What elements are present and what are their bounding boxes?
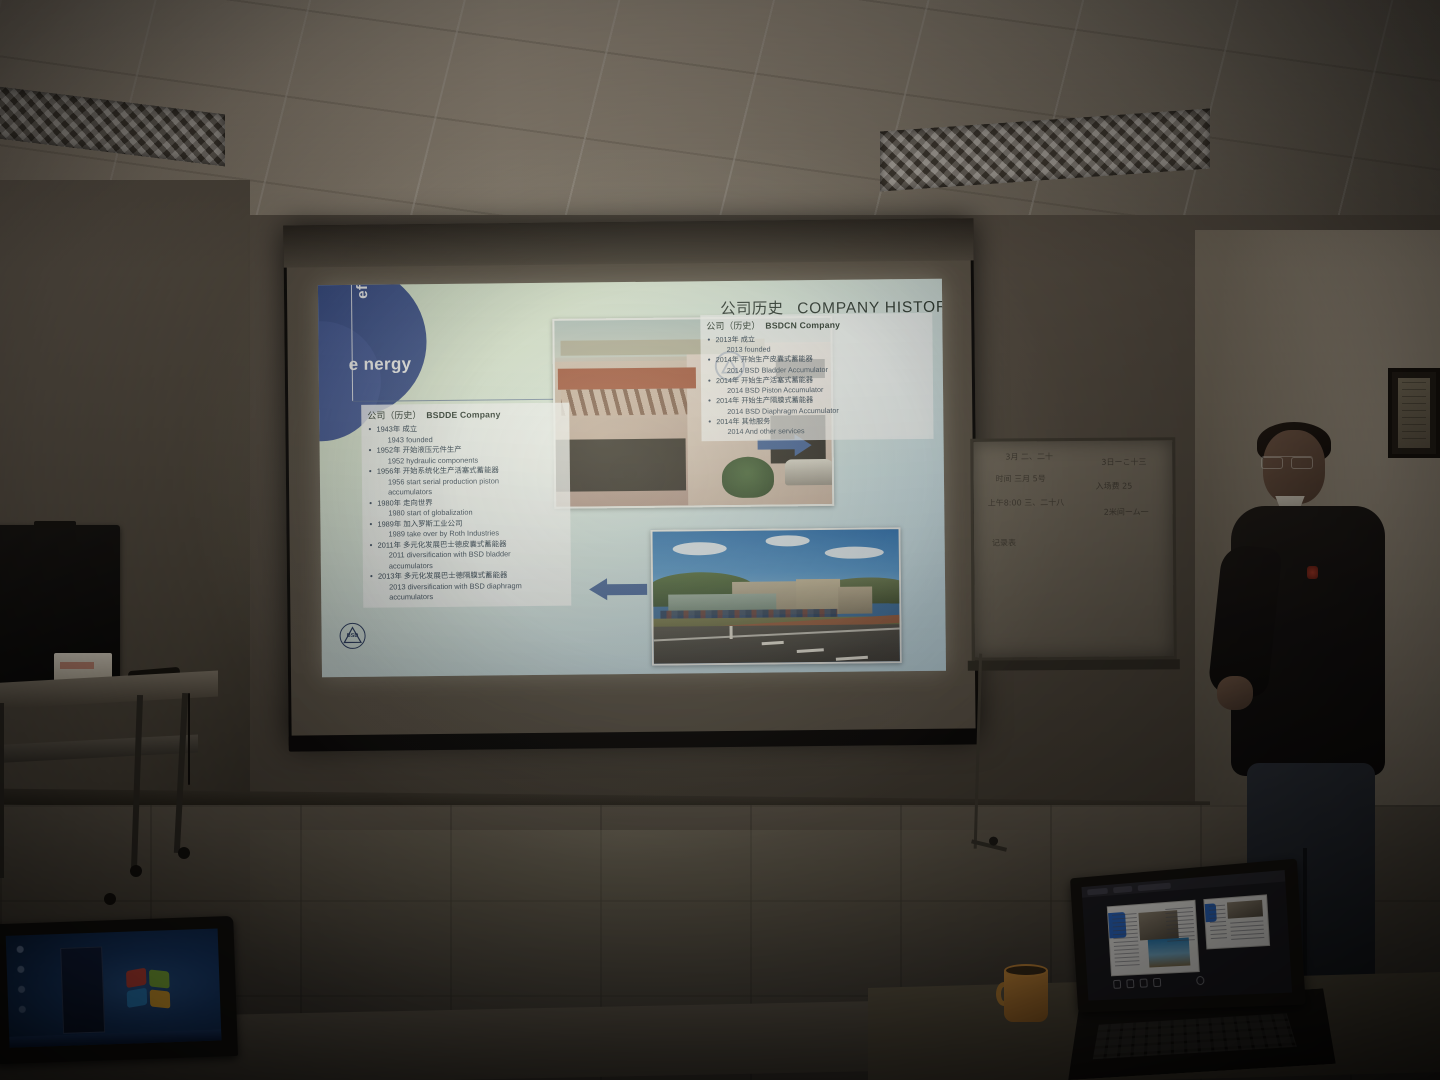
bsdcn-heading-en: BSDCN Company (765, 320, 840, 331)
projection-screen: efficient e nergy 公司历史 COMPANY HISTORY (283, 218, 978, 745)
presenter-hands (1217, 676, 1253, 710)
bsdcn-heading-cn: 公司（历史） (706, 321, 760, 332)
laptop-right-screen[interactable] (1082, 870, 1293, 1000)
photo-plant (651, 527, 902, 666)
photo-building-shrub (721, 456, 774, 497)
av-cart (0, 525, 224, 885)
whiteboard-text: 上午8:00 三、二十八 (988, 497, 1065, 509)
photo-building-sunshade-fins (561, 388, 688, 415)
grid-icon[interactable] (1153, 978, 1161, 987)
windows-logo-icon (126, 968, 173, 1010)
whiteboard-text: 2米间ーム一 (1104, 506, 1149, 517)
arrow-left-icon (589, 578, 647, 601)
photo-building-canopy (558, 368, 696, 390)
whiteboard-text: 入场费 25 (1096, 481, 1133, 492)
desktop-icons[interactable] (10, 940, 57, 1027)
laptop-right[interactable] (1056, 860, 1338, 1080)
photo-building-car (785, 459, 834, 486)
list-item: accumulators (369, 591, 565, 604)
pointer-icon[interactable] (1126, 979, 1134, 988)
bsd-logo-icon: BSD (339, 623, 365, 649)
thumbnail-photo (1227, 900, 1263, 919)
magnifier-icon[interactable] (1140, 979, 1148, 988)
bsdcn-entry-list: 2013年 成立 2013 founded 2014年 开始生产皮囊式蓄能器 2… (706, 333, 927, 437)
cart-caster (104, 893, 116, 905)
toolbar-button[interactable] (1138, 882, 1171, 891)
thumbnail-text-lines (1230, 920, 1264, 943)
list-item: 2014 And other services (707, 425, 927, 438)
cart-caster (130, 865, 142, 877)
slide-thumbnail[interactable] (1203, 894, 1270, 949)
bsdde-heading-en: BSDDE Company (426, 409, 500, 420)
photo-plant-marker-post (730, 626, 733, 639)
whiteboard: 3月 二、二十 时间 三月 5号 上午8:00 三、二十八 记录表 3日ーこ十三… (970, 437, 1177, 660)
thumbnail-text-lines (1165, 907, 1195, 943)
bsdcn-history-panel: 公司（历史） BSDCN Company 2013年 成立 2013 found… (700, 313, 933, 442)
bsd-logo-label: BSD (341, 633, 365, 639)
open-window[interactable] (60, 947, 105, 1034)
monitor-top-handle (34, 521, 76, 528)
whiteboard-text: 3日ーこ十三 (1101, 456, 1146, 467)
thumbnail-text-lines (1112, 913, 1140, 969)
whiteboard-text: 时间 三月 5号 (995, 473, 1045, 484)
presenter-badge (1307, 566, 1318, 579)
bsdde-history-panel: 公司（历史） BSDDE Company 1943年 成立 1943 found… (361, 403, 571, 608)
mug-rim (1004, 964, 1048, 977)
power-cable (188, 693, 190, 785)
whiteboard-surface[interactable]: 3月 二、二十 时间 三月 5号 上午8:00 三、二十八 记录表 3日ーこ十三… (970, 437, 1177, 660)
slide-thumbnail[interactable] (1107, 900, 1200, 977)
cart-lower-shelf (0, 734, 198, 763)
pen-icon[interactable] (1113, 980, 1121, 989)
cart-caster (178, 847, 190, 859)
brand-word-energy: e nergy (349, 354, 412, 375)
whiteboard-text: 3月 二、二十 (1005, 451, 1053, 462)
more-options-icon[interactable] (1196, 976, 1205, 985)
projected-slide: efficient e nergy 公司历史 COMPANY HISTORY (318, 279, 946, 678)
room-scene: efficient e nergy 公司历史 COMPANY HISTORY (0, 0, 1440, 1080)
app-toolbar[interactable] (1082, 870, 1286, 898)
cart-leg (0, 703, 4, 878)
bsdde-entry-list: 1943年 成立 1943 founded 1952年 开始液压元件生产 195… (367, 423, 565, 604)
coffee-mug[interactable] (1000, 962, 1056, 1024)
equipment-box-label (60, 662, 94, 669)
thumbnail-text-lines (1209, 905, 1227, 942)
brand-wordmark: efficient e nergy (332, 290, 429, 409)
cart-leg (131, 695, 143, 870)
glasses-icon (1261, 456, 1313, 466)
bsdde-heading: 公司（历史） BSDDE Company (367, 407, 563, 422)
screen-top-shadow (283, 218, 973, 267)
laptop-left-screen[interactable] (6, 928, 222, 1047)
photo-plant-building (838, 586, 873, 614)
cart-leg (174, 693, 188, 853)
bsdcn-heading: 公司（历史） BSDCN Company (706, 317, 926, 332)
whiteboard-marker-tray (968, 659, 1180, 670)
photo-plant-cloud (672, 542, 726, 556)
whiteboard-text: 记录表 (992, 537, 1016, 548)
whiteboard-caster (989, 837, 998, 846)
laptop-left[interactable] (0, 916, 245, 1080)
laptop-right-lid (1070, 859, 1306, 1013)
toolbar-button[interactable] (1113, 885, 1132, 892)
bsdde-heading-cn: 公司（历史） (367, 410, 421, 421)
photo-building-glazing (556, 438, 686, 491)
toolbar-button[interactable] (1087, 887, 1108, 894)
